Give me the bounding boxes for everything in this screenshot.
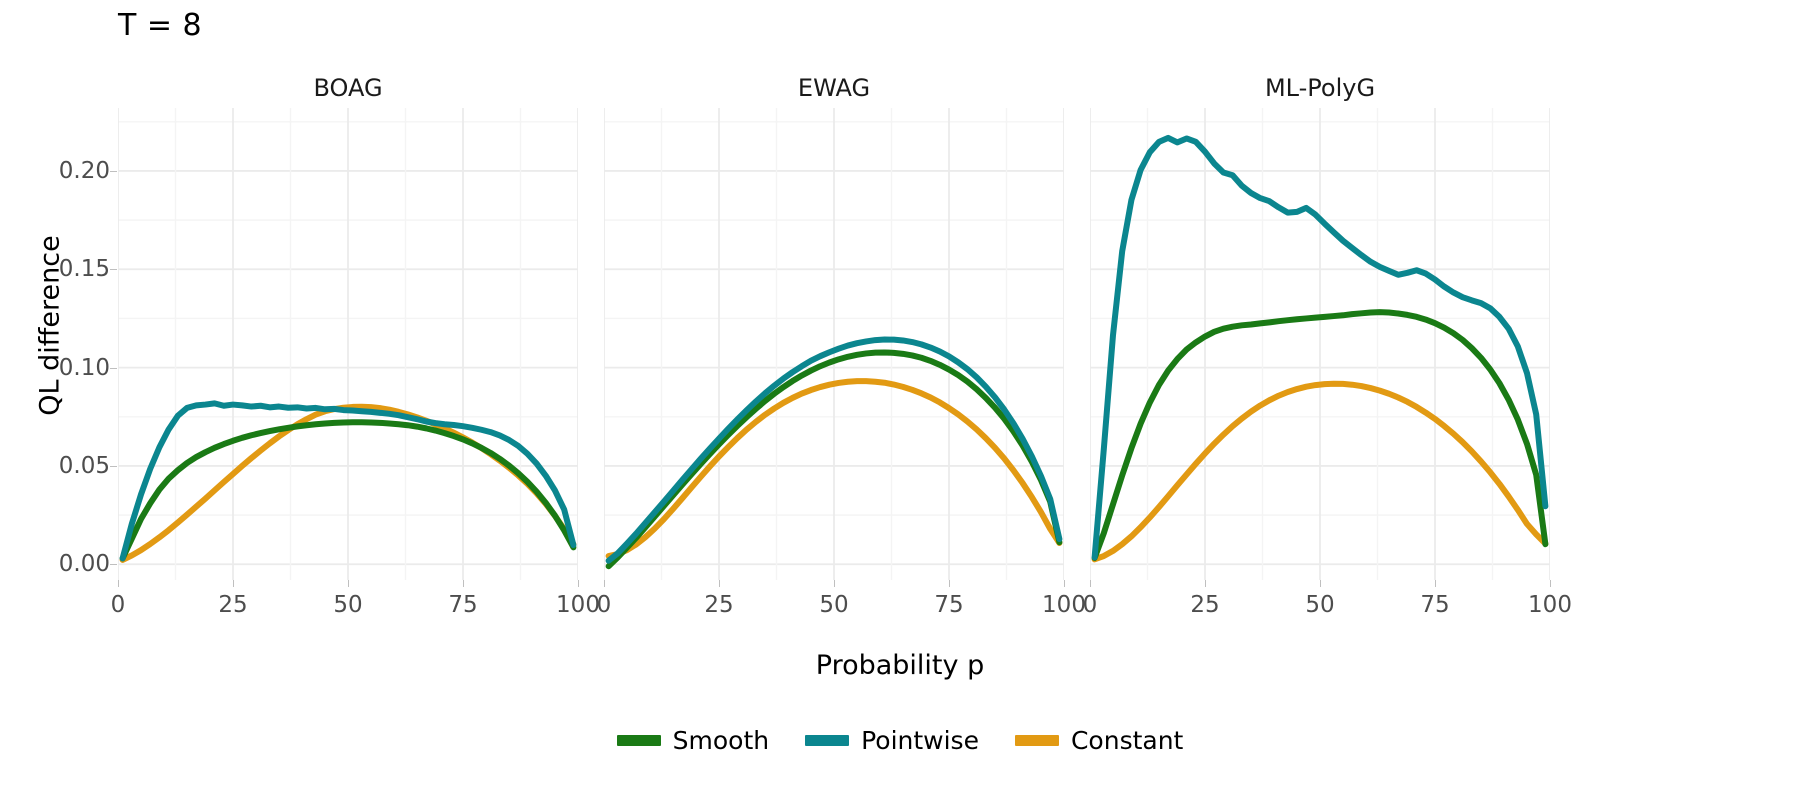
x-tick-label: 50: [819, 592, 848, 618]
panel-canvas: [1090, 108, 1550, 580]
figure-title: T = 8: [118, 8, 202, 43]
panel-boag: [118, 108, 578, 580]
x-tick-label: 50: [333, 592, 362, 618]
y-tick-mark: [110, 171, 117, 172]
x-tick-mark: [1090, 580, 1091, 587]
x-tick-mark: [118, 580, 119, 587]
y-tick-mark: [110, 269, 117, 270]
x-tick-label: 25: [704, 592, 733, 618]
x-tick-label: 100: [1042, 592, 1086, 618]
x-tick-label: 100: [1528, 592, 1572, 618]
x-tick-mark: [1320, 580, 1321, 587]
gridlines: [118, 108, 578, 580]
panel-title-boag: BOAG: [118, 74, 578, 102]
y-tick-label: 0.15: [0, 256, 110, 282]
x-tick-label: 25: [218, 592, 247, 618]
y-tick-label: 0.10: [0, 355, 110, 381]
x-tick-mark: [348, 580, 349, 587]
y-tick-mark: [110, 466, 117, 467]
x-tick-label: 0: [597, 592, 612, 618]
panel-ewag: [604, 108, 1064, 580]
y-tick-mark: [110, 368, 117, 369]
panel-title-ml-polyg: ML-PolyG: [1090, 74, 1550, 102]
x-tick-mark: [1064, 580, 1065, 587]
x-tick-label: 0: [1083, 592, 1098, 618]
panel-title-ewag: EWAG: [604, 74, 1064, 102]
x-tick-label: 75: [448, 592, 477, 618]
x-tick-label: 100: [556, 592, 600, 618]
x-tick-mark: [1550, 580, 1551, 587]
y-tick-label: 0.00: [0, 551, 110, 577]
x-tick-mark: [1435, 580, 1436, 587]
x-axis-title: Probability p: [0, 650, 1800, 681]
x-tick-mark: [604, 580, 605, 587]
legend-label: Smooth: [673, 726, 769, 755]
y-tick-label: 0.05: [0, 453, 110, 479]
x-tick-mark: [1205, 580, 1206, 587]
legend-item-smooth[interactable]: Smooth: [617, 726, 769, 755]
x-tick-mark: [719, 580, 720, 587]
x-tick-label: 50: [1305, 592, 1334, 618]
legend-item-pointwise[interactable]: Pointwise: [805, 726, 979, 755]
x-tick-mark: [578, 580, 579, 587]
x-tick-label: 25: [1190, 592, 1219, 618]
x-tick-label: 75: [934, 592, 963, 618]
panel-canvas: [118, 108, 578, 580]
x-tick-mark: [233, 580, 234, 587]
x-tick-mark: [834, 580, 835, 587]
x-tick-label: 0: [111, 592, 126, 618]
legend-swatch-icon: [805, 735, 849, 746]
y-tick-mark: [110, 564, 117, 565]
chart-figure: T = 8 QL difference 0.000.050.100.150.20…: [0, 0, 1800, 800]
legend-item-constant[interactable]: Constant: [1015, 726, 1183, 755]
y-tick-label: 0.20: [0, 158, 110, 184]
legend: SmoothPointwiseConstant: [0, 726, 1800, 755]
legend-label: Pointwise: [861, 726, 979, 755]
x-tick-mark: [949, 580, 950, 587]
legend-label: Constant: [1071, 726, 1183, 755]
legend-swatch-icon: [1015, 735, 1059, 746]
panel-canvas: [604, 108, 1064, 580]
legend-swatch-icon: [617, 735, 661, 746]
x-tick-label: 75: [1420, 592, 1449, 618]
x-tick-mark: [463, 580, 464, 587]
panel-ml-polyg: [1090, 108, 1550, 580]
